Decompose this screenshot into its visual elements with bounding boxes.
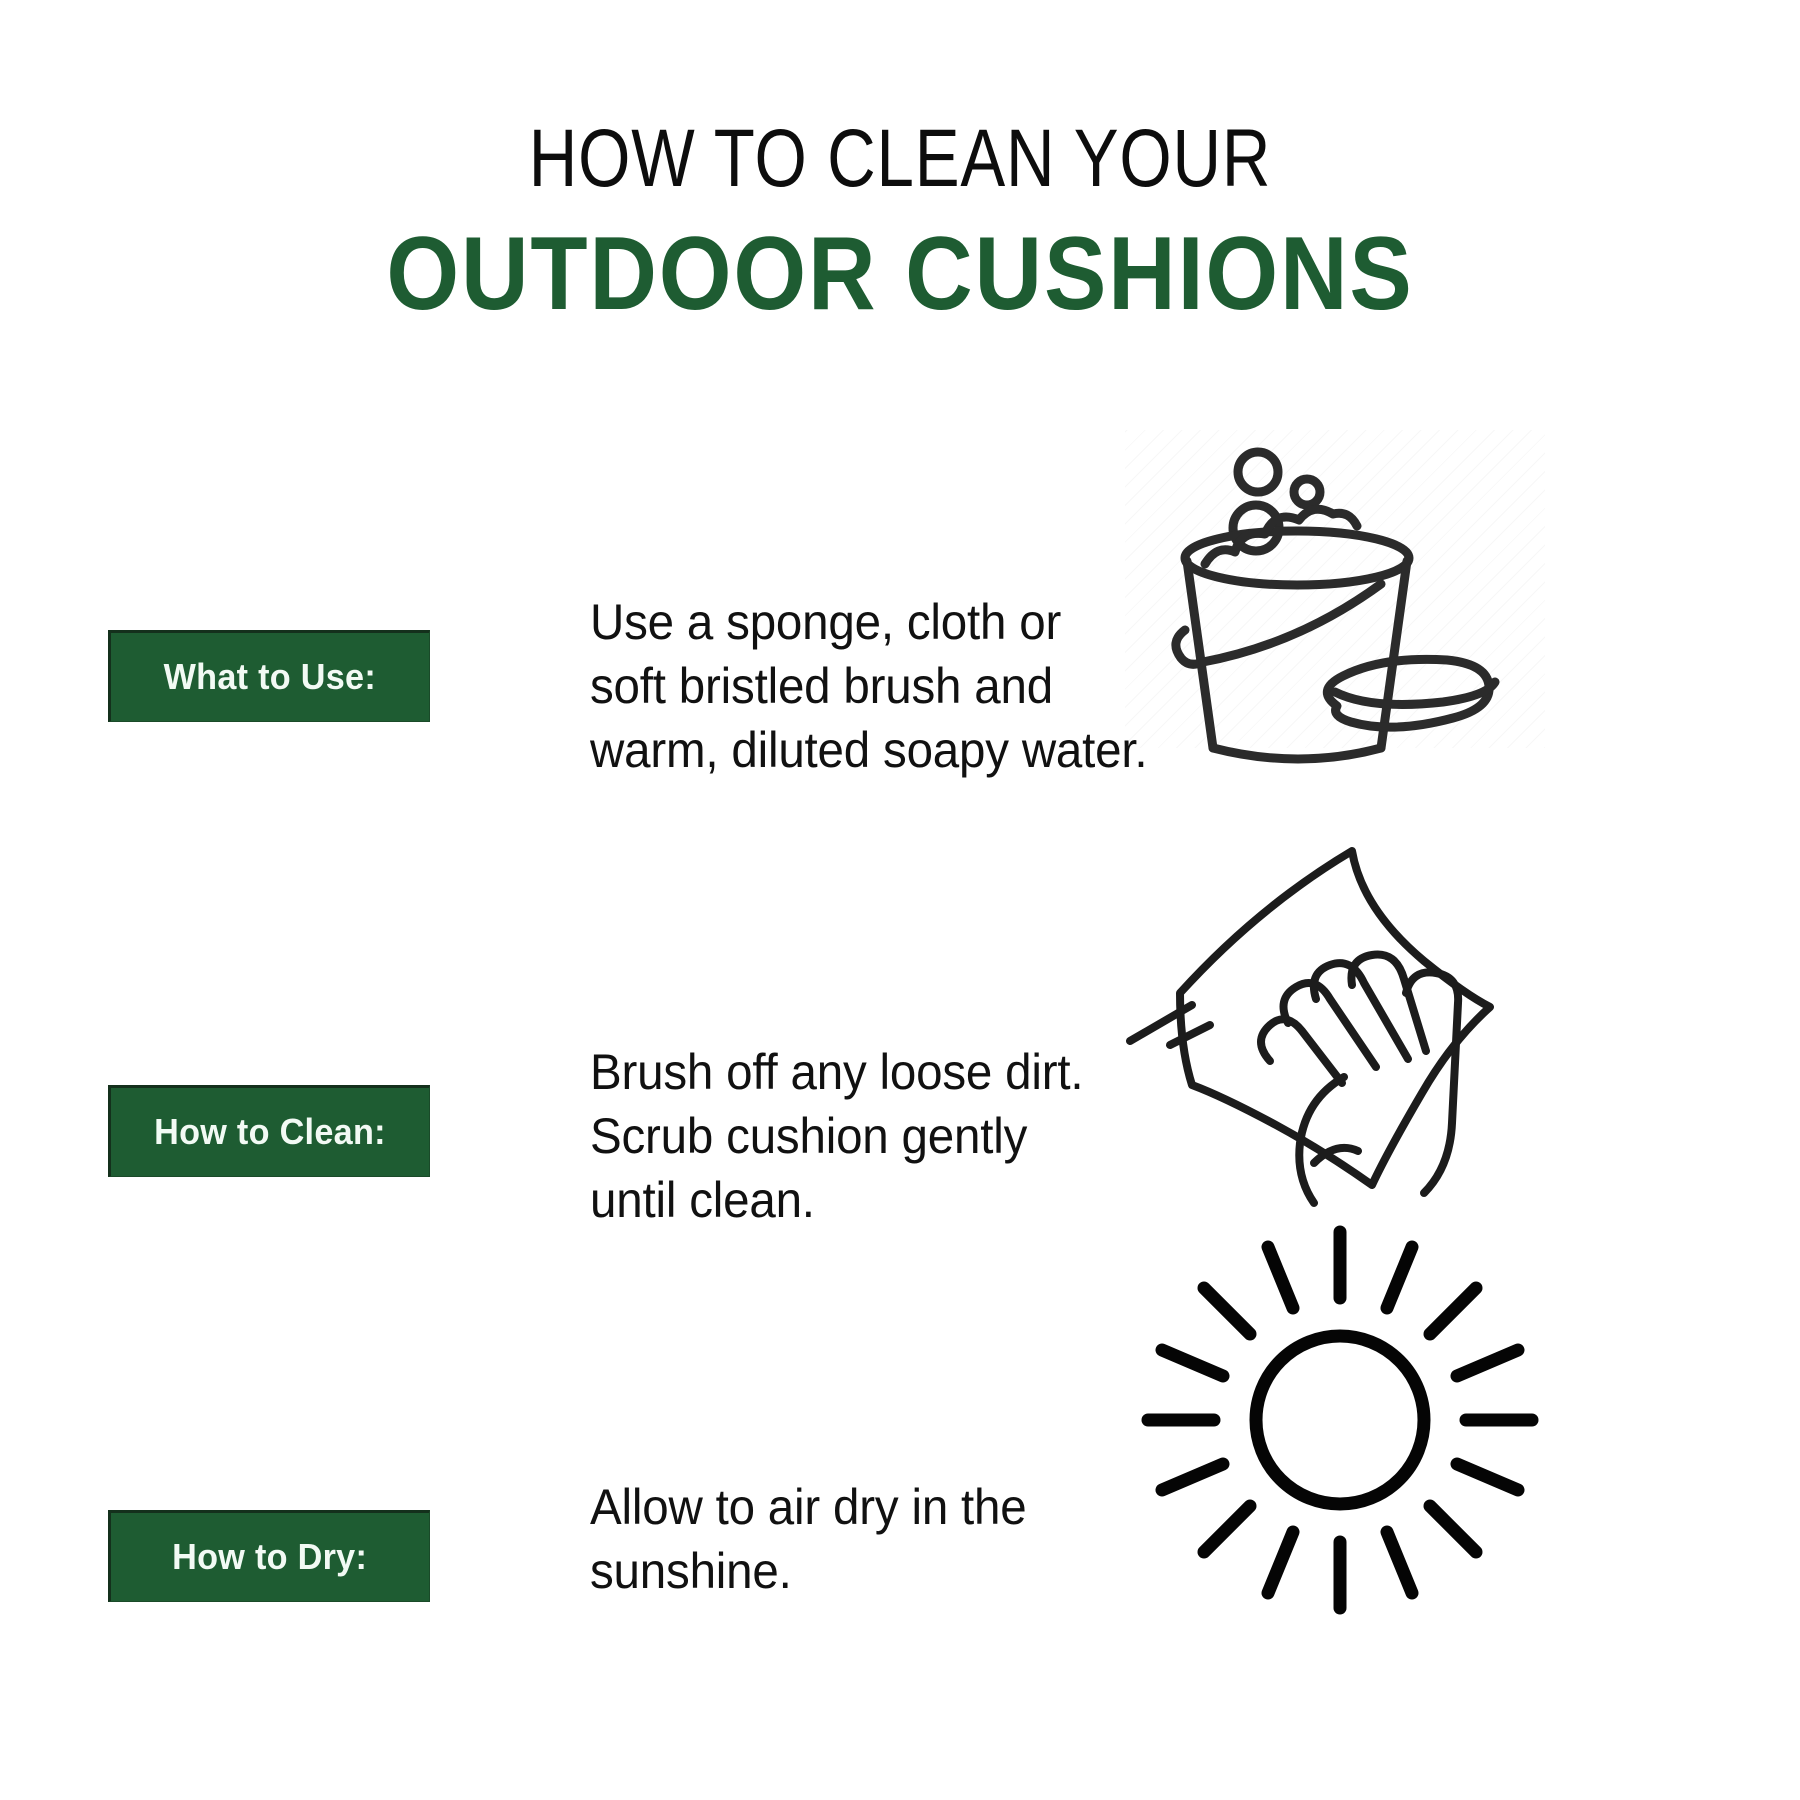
badge-how-to-clean: How to Clean: (108, 1085, 430, 1177)
body-line: sunshine. (590, 1539, 1122, 1603)
body-text-what-to-use: Use a sponge, cloth or soft bristled bru… (590, 590, 1122, 782)
badge-what-to-use: What to Use: (108, 630, 430, 722)
badge-label-how-to-clean: How to Clean: (154, 1111, 386, 1153)
bucket-with-soapy-water-and-sponge-icon (1125, 430, 1545, 760)
badge-label-what-to-use: What to Use: (164, 656, 376, 698)
badge-how-to-dry: How to Dry: (108, 1510, 430, 1602)
title-line-primary: HOW TO CLEAN YOUR (162, 118, 1638, 200)
page-title: HOW TO CLEAN YOUR OUTDOOR CUSHIONS (0, 118, 1800, 326)
body-line: warm, diluted soapy water. (590, 718, 1122, 782)
infographic-page: HOW TO CLEAN YOUR OUTDOOR CUSHIONS What … (0, 0, 1800, 1800)
section-how-to-dry: How to Dry: Allow to air dry in the suns… (0, 1210, 1800, 1610)
section-what-to-use: What to Use: Use a sponge, cloth or soft… (0, 430, 1800, 760)
body-line: soft bristled brush and (590, 654, 1122, 718)
badge-label-how-to-dry: How to Dry: (172, 1536, 367, 1578)
body-line: Use a sponge, cloth or (590, 590, 1122, 654)
sun-icon (1140, 1210, 1540, 1600)
hand-wiping-with-cloth-icon (1120, 845, 1550, 1175)
body-line: Allow to air dry in the (590, 1475, 1122, 1539)
section-how-to-clean: How to Clean: Brush off any loose dirt. … (0, 845, 1800, 1245)
body-line: Brush off any loose dirt. (590, 1040, 1122, 1104)
body-text-how-to-dry: Allow to air dry in the sunshine. (590, 1475, 1122, 1603)
title-line-secondary: OUTDOOR CUSHIONS (90, 222, 1710, 326)
body-line: Scrub cushion gently (590, 1104, 1122, 1168)
body-text-how-to-clean: Brush off any loose dirt. Scrub cushion … (590, 1040, 1122, 1232)
